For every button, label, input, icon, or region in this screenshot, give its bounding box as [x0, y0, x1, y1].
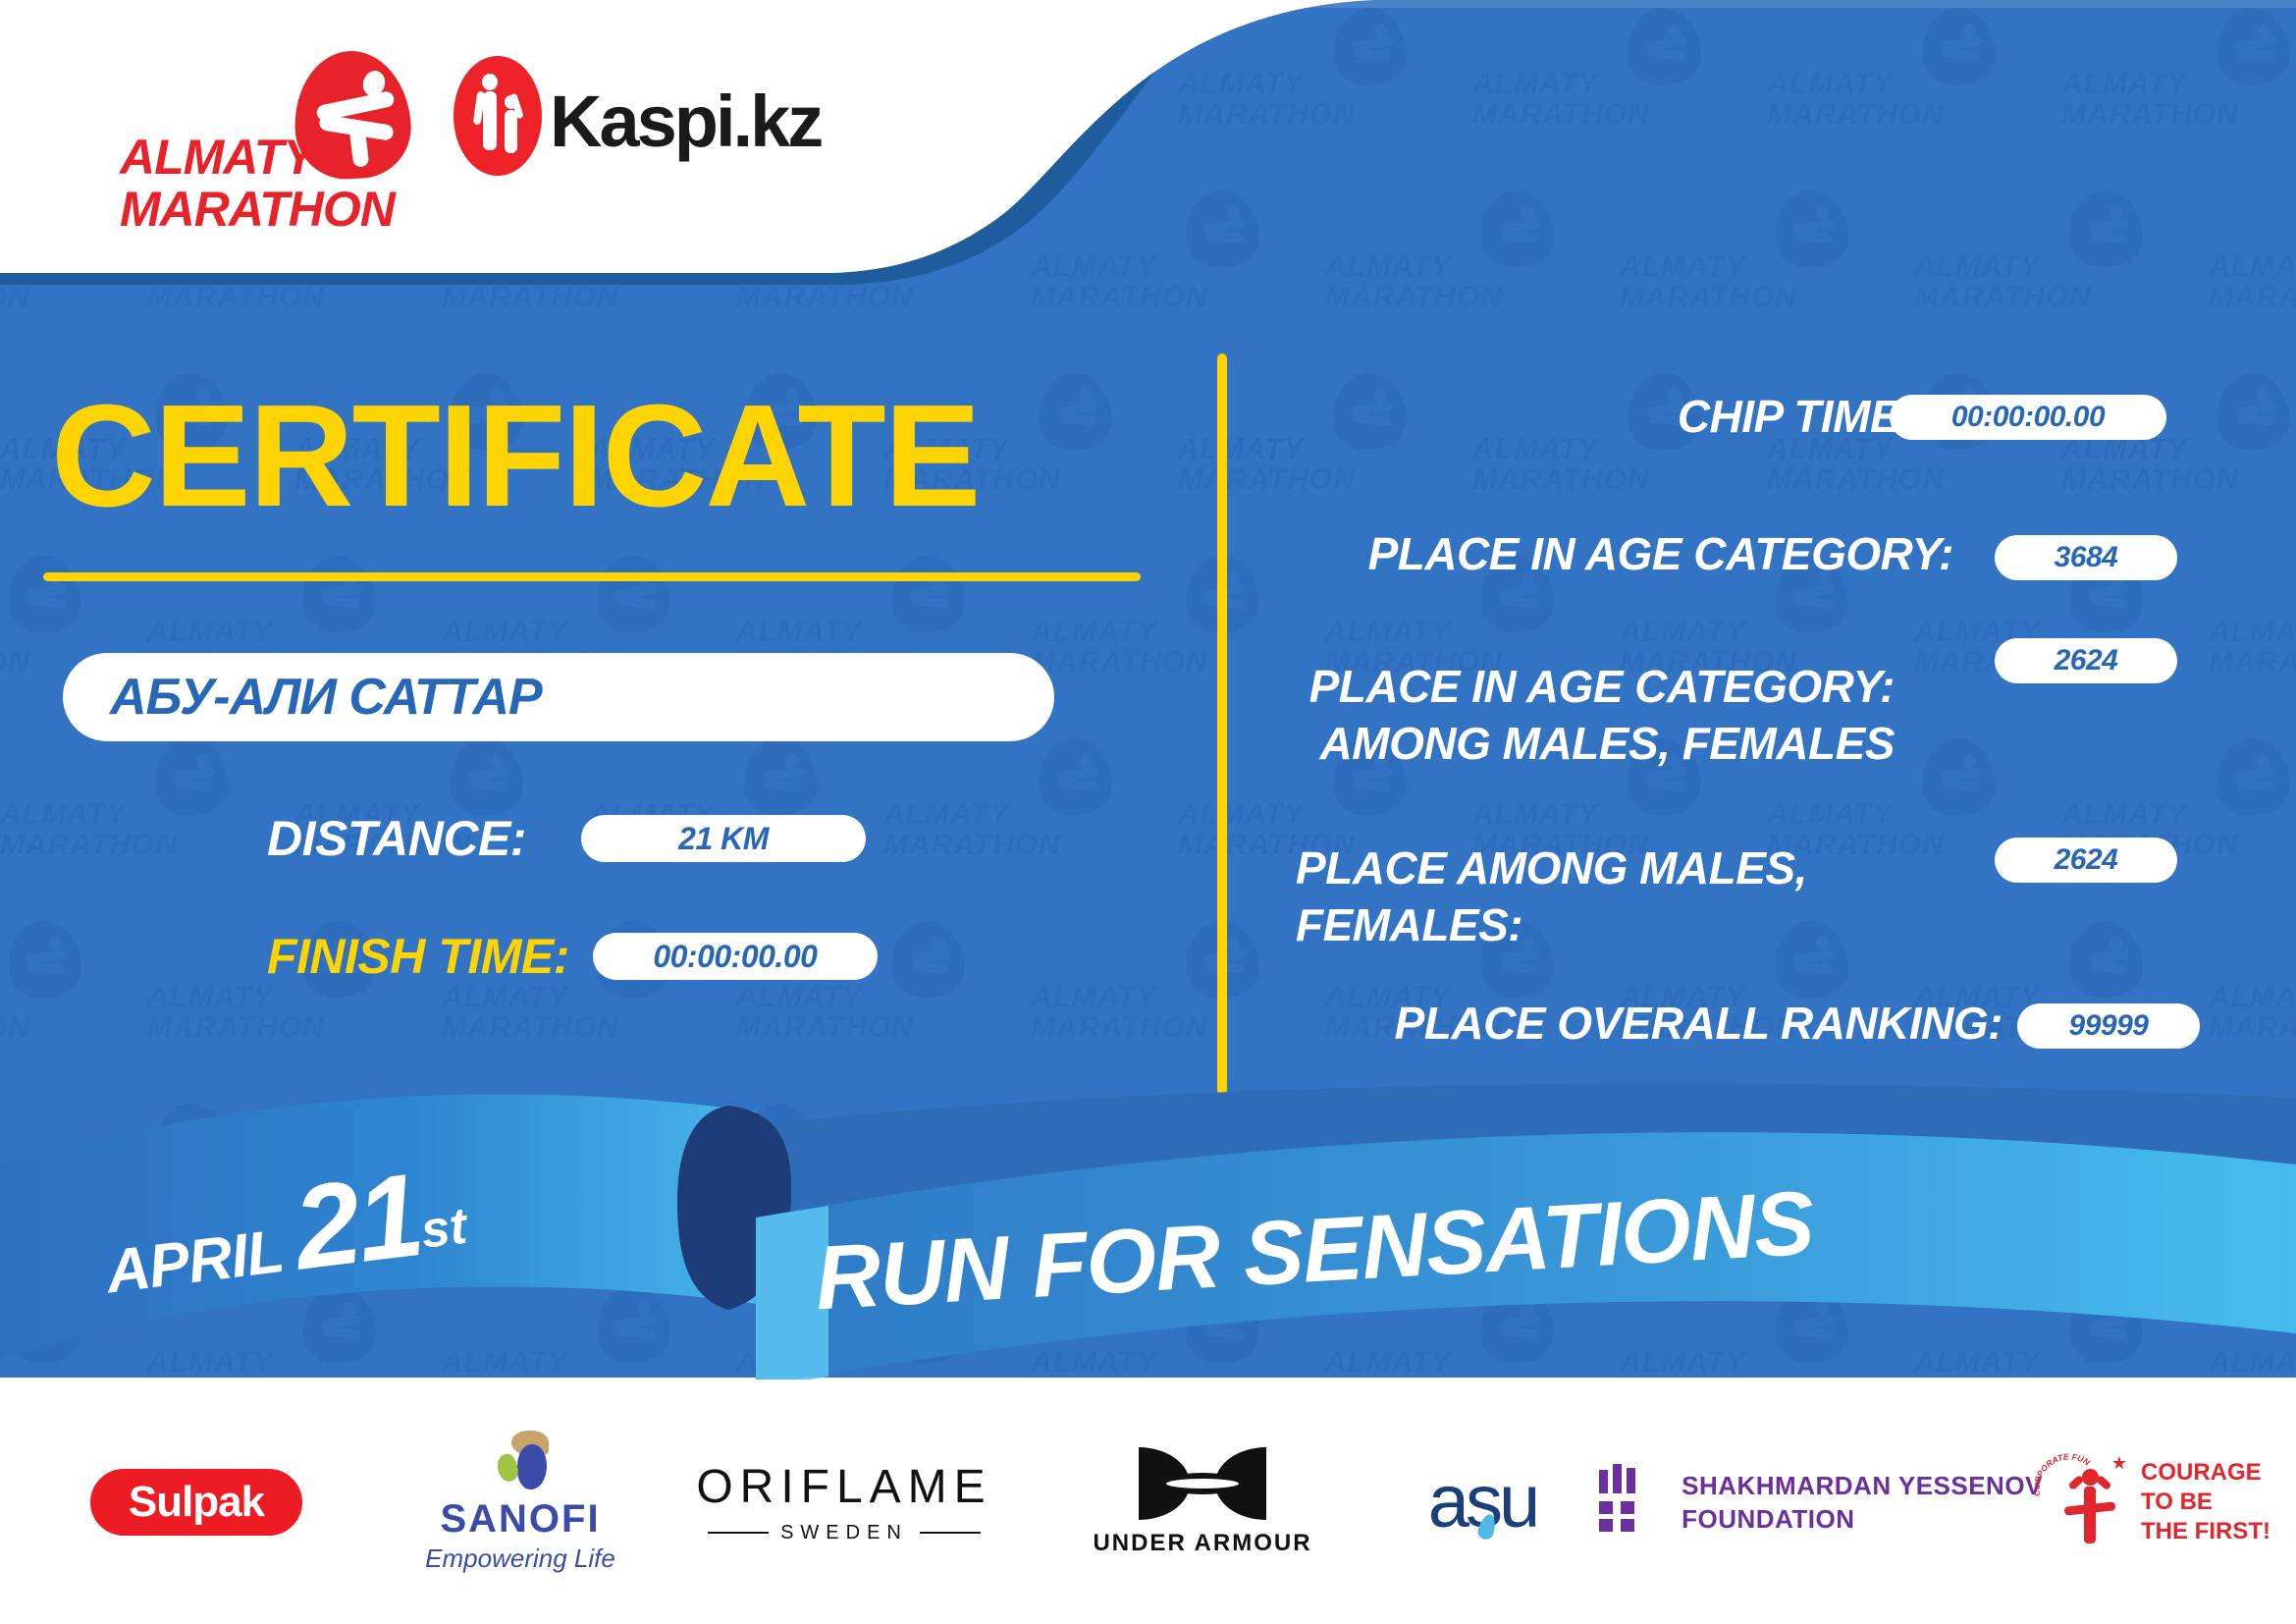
certificate-canvas: ALMATY MARATHONALMATY MARATHONALMATY MAR…: [0, 0, 2296, 1624]
place-among-gender-value: 2624: [1995, 838, 2177, 883]
distance-label: DISTANCE:: [267, 810, 526, 867]
kaspi-wordmark: Kaspi.kz: [550, 80, 821, 163]
chip-time-row: CHIP TIME:: [1306, 388, 1914, 447]
yessenov-wordmark: SHAKHMARDAN YESSENOV FOUNDATION: [1682, 1469, 2043, 1536]
event-day-suffix: st: [418, 1198, 470, 1260]
corporate-fund-tagline: COURAGE TO BE THE FIRST!: [2141, 1458, 2270, 1546]
sulpak-logo: Sulpak: [90, 1469, 302, 1536]
title-underline-rule: [43, 572, 1141, 581]
sanofi-mark-icon: [486, 1431, 555, 1491]
watermark-tile: ALMATY MARATHON: [2061, 8, 2295, 153]
yessenov-bars-icon: [1599, 1464, 1656, 1541]
place-among-gender-label-line2: FEMALES:: [1296, 896, 1522, 953]
event-day: 21: [287, 1149, 427, 1295]
place-overall-ranking-value: 99999: [2017, 1003, 2200, 1049]
chip-time-value: 00:00:00.00: [1890, 395, 2166, 440]
place-age-category-label: PLACE IN AGE CATEGORY:: [1368, 525, 1953, 582]
oriflame-wordmark: ORIFLAME: [696, 1460, 991, 1514]
watermark-tile: ALMATY MARATHON: [1914, 190, 2148, 336]
place-age-category-gender-label-line2: AMONG MALES, FEMALES: [1320, 715, 1895, 772]
oriflame-rule-right: [920, 1532, 981, 1534]
place-age-category-row: PLACE IN AGE CATEGORY:: [1207, 525, 1953, 584]
place-age-category-value: 3684: [1995, 535, 2177, 580]
participant-name-value: АБУ-АЛИ САТТАР: [110, 668, 542, 727]
oriflame-country: SWEDEN: [780, 1522, 908, 1544]
event-month: APRIL: [102, 1216, 301, 1306]
sponsor-corporate-fund: CORPORATE FUND ★ COURAGE TO BE THE FIRST…: [2032, 1380, 2277, 1624]
watermark-tile: ALMATY MARATHON: [2209, 190, 2296, 336]
kaspi-logo: Kaspi.kz: [452, 54, 746, 182]
sanofi-tagline: Empowering Life: [425, 1543, 615, 1574]
under-armour-icon: [1139, 1447, 1266, 1520]
place-age-category-gender-value: 2624: [1995, 638, 2177, 683]
watermark-tile: ALMATY MARATHON: [2209, 556, 2296, 701]
sponsor-sulpak: Sulpak: [59, 1380, 334, 1624]
finish-time-row: FINISH TIME: 00:00:00.00: [267, 928, 878, 985]
sponsor-yessenov-foundation: SHAKHMARDAN YESSENOV FOUNDATION: [1610, 1380, 2032, 1624]
header-logos: ALMATY MARATHON Kaspi.kz: [0, 0, 1178, 285]
place-age-category-gender-row: PLACE IN AGE CATEGORY: AMONG MALES, FEMA…: [1207, 658, 1895, 785]
corporate-fund-figure-icon: CORPORATE FUND ★: [2039, 1451, 2127, 1553]
participant-name-field: АБУ-АЛИ САТТАР: [63, 653, 1054, 741]
place-overall-ranking-row: PLACE OVERALL RANKING:: [1207, 995, 2002, 1054]
sponsor-under-armour: UNDER ARMOUR: [1065, 1380, 1340, 1624]
watermark-tile: ALMATY MARATHON: [0, 738, 234, 884]
sponsor-oriflame: ORIFLAME SWEDEN: [687, 1380, 1001, 1624]
sponsor-sanofi: SANOFI Empowering Life: [383, 1380, 658, 1624]
finish-time-label: FINISH TIME:: [267, 928, 569, 985]
oriflame-subline: SWEDEN: [708, 1522, 981, 1544]
sanofi-wordmark: SANOFI: [440, 1497, 600, 1542]
watermark-tile: ALMATY MARATHON: [1472, 8, 1706, 153]
finish-time-value: 00:00:00.00: [593, 933, 878, 980]
place-among-gender-label-line1: PLACE AMONG MALES,: [1296, 839, 1807, 896]
almaty-marathon-wordmark: ALMATY MARATHON: [120, 132, 395, 236]
place-overall-ranking-label: PLACE OVERALL RANKING:: [1395, 995, 2002, 1052]
star-icon: ★: [2111, 1453, 2127, 1474]
oriflame-rule-left: [708, 1532, 769, 1534]
kaspi-people-icon: [469, 74, 526, 166]
watermark-tile: ALMATY MARATHON: [2209, 921, 2296, 1066]
place-among-gender-row: PLACE AMONG MALES, FEMALES:: [1207, 839, 1796, 967]
watermark-tile: ALMATY MARATHON: [1767, 8, 2001, 153]
event-ribbon: APRIL 21st RUN FOR SENSATIONS: [0, 1070, 2296, 1394]
page-title: CERTIFICATE: [51, 383, 979, 530]
chip-time-label: CHIP TIME:: [1678, 388, 1914, 445]
sponsor-asu: asu: [1364, 1380, 1600, 1624]
watermark-tile: ALMATY MARATHON: [1620, 190, 1853, 336]
watermark-tile: ALMATY MARATHON: [0, 921, 86, 1066]
sponsor-bar: Sulpak SANOFI Empowering Life ORIFLAME S…: [0, 1380, 2296, 1624]
watermark-tile: ALMATY MARATHON: [883, 738, 1117, 884]
under-armour-wordmark: UNDER ARMOUR: [1093, 1530, 1311, 1557]
almaty-marathon-logo: ALMATY MARATHON: [120, 45, 434, 232]
distance-value: 21 KM: [581, 815, 866, 862]
place-age-category-gender-label-line1: PLACE IN AGE CATEGORY:: [1309, 658, 1895, 715]
distance-row: DISTANCE: 21 KM: [267, 810, 866, 867]
